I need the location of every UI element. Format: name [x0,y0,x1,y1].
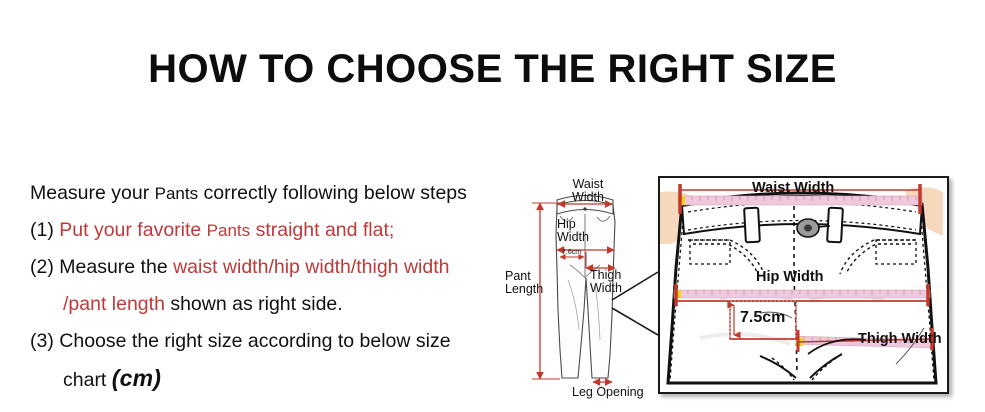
step3-unit: (cm) [112,365,161,391]
panel-label-drop-measure: 7.5cm [740,310,785,327]
measurement-diagram: Waist Width Hip Width Thigh Width 7.6cm … [500,160,985,410]
step3-marker: (3) [30,330,54,352]
buttonhole-slit [818,226,830,227]
instruction-step-1: (1) Put your favorite Pants straight and… [30,212,530,249]
step1-text-b: straight and flat; [250,219,394,241]
waist-tape [678,196,922,205]
panel-label-thigh-width: Thigh Width [858,332,942,347]
instruction-step-3: (3) Choose the right size according to b… [30,323,530,360]
sketch-label-offset-measure: 7.6cm [562,249,581,256]
jeans-closeup-panel: Waist Width Hip Width 7.5cm Thigh Width [658,176,949,394]
sketch-label-leg-opening: Leg Opening [572,386,644,399]
instructions-block: Measure your Pants correctly following b… [30,175,530,399]
panel-label-hip-width: Hip Width [756,270,824,285]
step3-line2-lead: chart [63,369,112,391]
waist-button-hole [804,225,812,232]
panel-label-waist-width: Waist Width [752,181,834,196]
intro-text-part2: correctly following below steps [198,182,467,204]
step2-red-b: /pant length [63,293,165,315]
step1-text-a: Put your favorite [59,219,206,241]
step2-red-a: waist width/hip width/thigh width [173,256,449,278]
belt-loop-right [827,208,843,243]
hip-tape [674,290,930,298]
instruction-step-3-cont: chart (cm) [30,360,530,399]
page-title: HOW TO CHOOSE THE RIGHT SIZE [0,47,985,92]
sketch-label-pant-length: Pant Length [505,270,543,296]
intro-text-part1: Measure your [30,182,155,204]
step1-marker: (1) [30,219,54,241]
button-icon [583,207,586,210]
sketch-label-hip-width: Hip Width [557,218,589,244]
belt-loop-left [744,208,760,243]
instruction-step-2-cont: /pant length shown as right side. [30,286,530,323]
intro-garment: Pants [155,184,198,203]
sketch-label-waist-width: Waist Width [560,178,616,204]
step2-lead: Measure the [59,256,173,278]
step2-tail: shown as right side. [165,293,343,315]
sketch-label-thigh-width: Thigh Width [590,269,622,295]
step1-garment: Pants [207,221,250,240]
step3-line1: Choose the right size according to below… [59,330,450,352]
instruction-intro: Measure your Pants correctly following b… [30,175,530,212]
size-guide-graphic: HOW TO CHOOSE THE RIGHT SIZE Measure you… [0,0,985,412]
step2-marker: (2) [30,256,54,278]
instruction-step-2: (2) Measure the waist width/hip width/th… [30,249,530,286]
